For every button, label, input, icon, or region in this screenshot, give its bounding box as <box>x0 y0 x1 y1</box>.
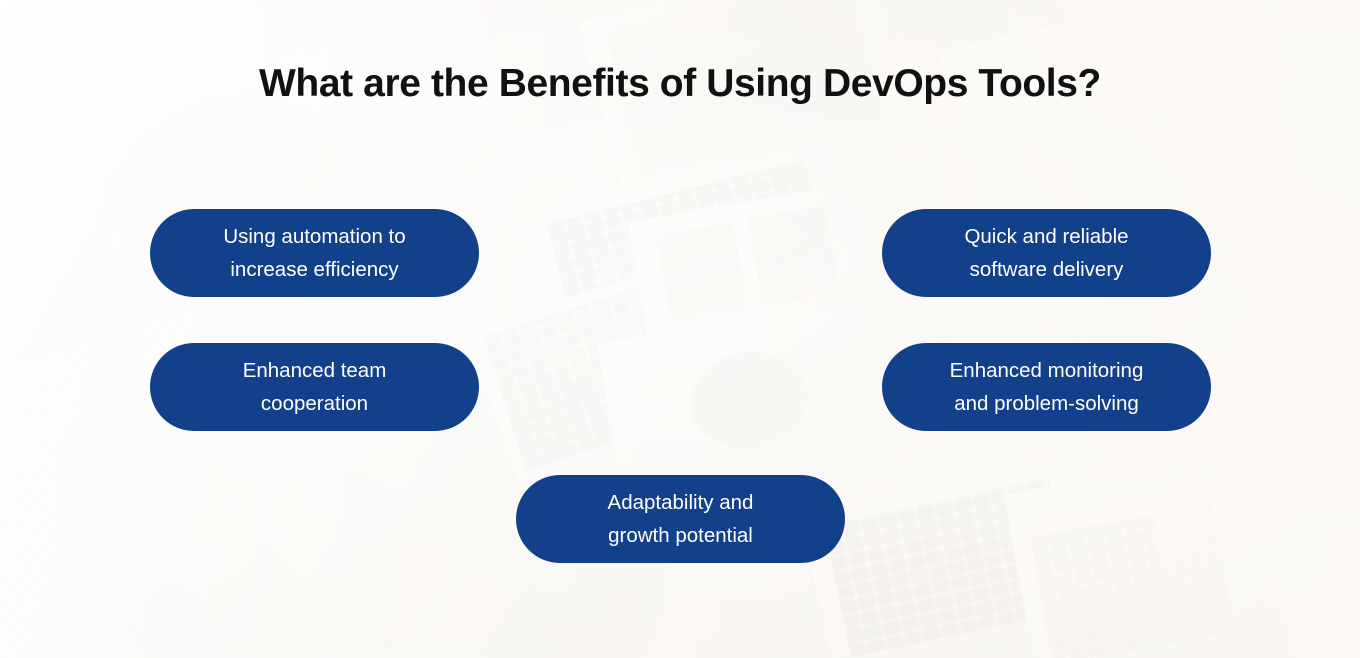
benefit-pill-team-cooperation[interactable]: Enhanced team cooperation <box>150 343 479 431</box>
benefit-pill-software-delivery[interactable]: Quick and reliable software delivery <box>882 209 1211 297</box>
benefit-pill-automation-efficiency[interactable]: Using automation to increase efficiency <box>150 209 479 297</box>
benefit-label: Quick and reliable software delivery <box>964 220 1128 286</box>
devops-benefits-infographic: What are the Benefits of Using DevOps To… <box>0 0 1360 658</box>
benefit-label: Using automation to increase efficiency <box>223 220 405 286</box>
benefit-label: Enhanced monitoring and problem-solving <box>950 354 1144 420</box>
benefit-pill-adaptability-growth[interactable]: Adaptability and growth potential <box>516 475 845 563</box>
benefit-label: Adaptability and growth potential <box>608 486 754 552</box>
benefit-pill-monitoring-problem-solving[interactable]: Enhanced monitoring and problem-solving <box>882 343 1211 431</box>
page-title: What are the Benefits of Using DevOps To… <box>0 62 1360 106</box>
benefit-label: Enhanced team cooperation <box>243 354 387 420</box>
content-layer: What are the Benefits of Using DevOps To… <box>0 0 1360 658</box>
